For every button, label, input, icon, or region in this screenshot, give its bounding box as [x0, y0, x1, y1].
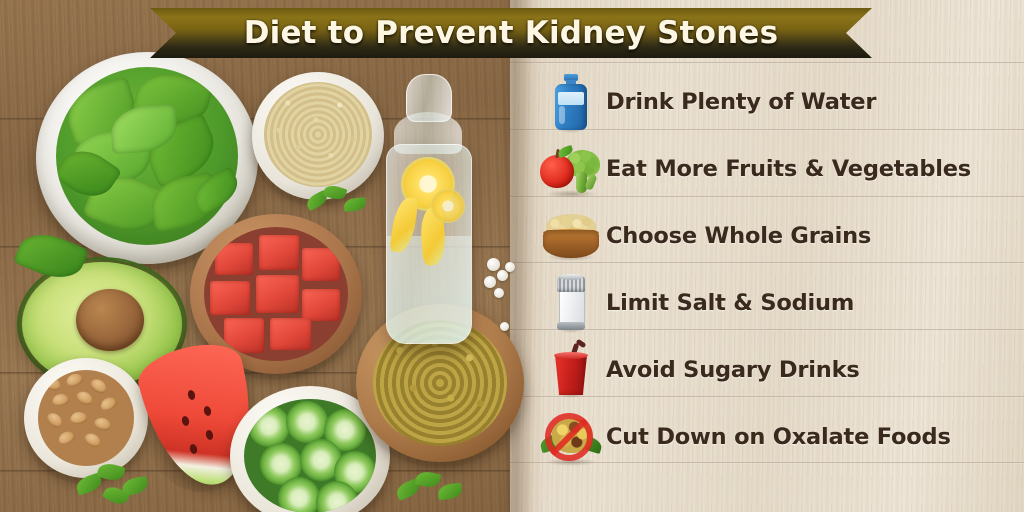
- title-banner: Diet to Prevent Kidney Stones: [150, 8, 872, 58]
- infographic-canvas: Diet to Prevent Kidney Stones Drink Plen…: [0, 0, 1024, 512]
- list-item[interactable]: Limit Salt & Sodium: [536, 269, 1006, 337]
- lemon-water-bottle: [378, 74, 478, 342]
- tip-label: Choose Whole Grains: [606, 223, 871, 249]
- apple-broccoli-icon: [536, 138, 606, 200]
- tip-label: Eat More Fruits & Vegetables: [606, 156, 971, 182]
- list-item[interactable]: Eat More Fruits & Vegetables: [536, 135, 1006, 203]
- tip-label: Limit Salt & Sodium: [606, 290, 854, 316]
- tip-label: Avoid Sugary Drinks: [606, 357, 860, 383]
- list-item[interactable]: Avoid Sugary Drinks: [536, 336, 1006, 404]
- list-item[interactable]: Drink Plenty of Water: [536, 68, 1006, 136]
- quinoa-bowl: [252, 72, 384, 200]
- grain-bowl-icon: [536, 205, 606, 267]
- salt-shaker-icon: [536, 272, 606, 334]
- no-oxalate-foods-icon: [536, 406, 606, 468]
- parsley-sprigs: [76, 462, 166, 508]
- list-item[interactable]: Choose Whole Grains: [536, 202, 1006, 270]
- diet-tips-list: Drink Plenty of Water Eat More Fruits & …: [536, 62, 1006, 470]
- page-title: Diet to Prevent Kidney Stones: [244, 15, 779, 51]
- tip-label: Drink Plenty of Water: [606, 89, 876, 115]
- tip-label: Cut Down on Oxalate Foods: [606, 424, 951, 450]
- water-bottle-icon: [536, 71, 606, 133]
- list-item[interactable]: Cut Down on Oxalate Foods: [536, 403, 1006, 471]
- almonds-bowl: [24, 358, 148, 478]
- soda-glass-icon: [536, 339, 606, 401]
- healthy-food-photo: [0, 0, 540, 512]
